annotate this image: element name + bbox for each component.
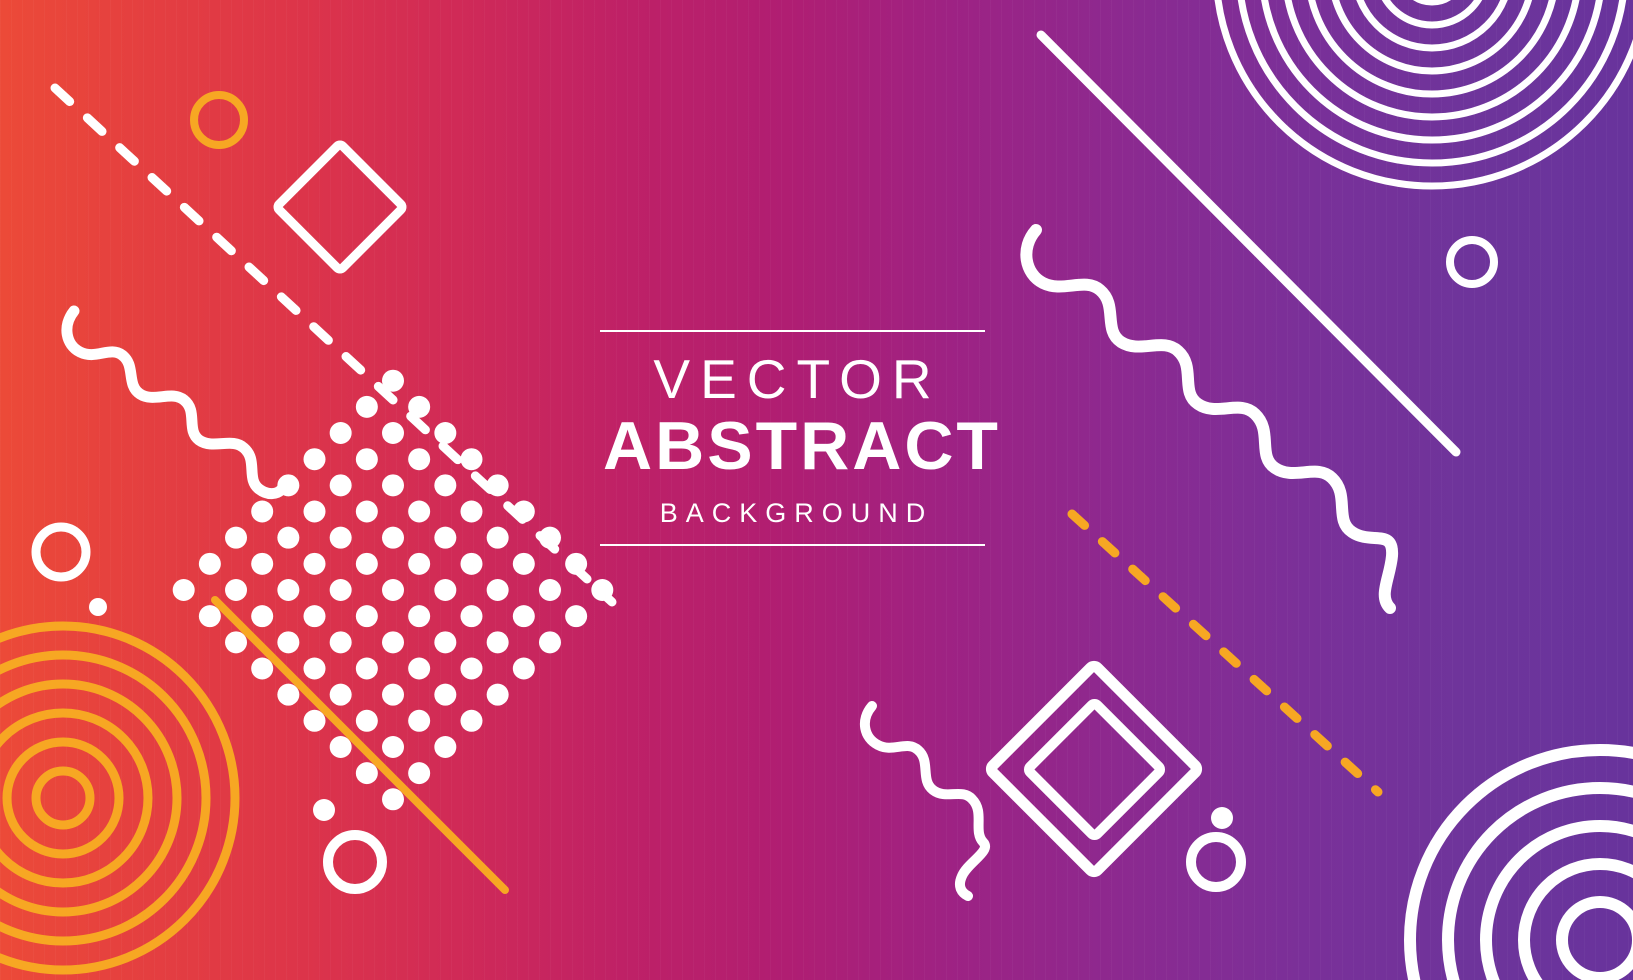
halftone-dot (199, 553, 221, 575)
halftone-dot (460, 657, 482, 679)
halftone-dot (513, 501, 535, 523)
amber-diagonal-line (215, 600, 505, 890)
halftone-dot (382, 631, 404, 653)
halftone-dot (408, 501, 430, 523)
halftone-dot (356, 710, 378, 732)
halftone-dot (487, 527, 509, 549)
halftone-dot (277, 684, 299, 706)
halftone-dot (408, 710, 430, 732)
white-ring-bottom-left-icon (328, 835, 382, 889)
halftone-dot (225, 527, 247, 549)
halftone-dot (277, 579, 299, 601)
amber-concentric-bottom-left (0, 626, 235, 970)
halftone-dot (251, 501, 273, 523)
halftone-dot (277, 474, 299, 496)
halftone-dot (251, 553, 273, 575)
halftone-dot (382, 422, 404, 444)
halftone-dot (408, 657, 430, 679)
halftone-dot (225, 579, 247, 601)
halftone-dot-diamond (173, 370, 614, 811)
white-ring-left-icon (36, 527, 86, 577)
halftone-dot (539, 631, 561, 653)
halftone-dot (356, 501, 378, 523)
halftone-dot (304, 605, 326, 627)
headline-text-block: VECTOR ABSTRACT BACKGROUND (600, 330, 985, 546)
white-square-outline-top-left (276, 143, 403, 270)
halftone-dot (434, 684, 456, 706)
dashed-diagonal-white-line (55, 88, 612, 602)
halftone-dot (487, 474, 509, 496)
halftone-dot (434, 527, 456, 549)
halftone-dot (251, 605, 273, 627)
halftone-dot (356, 762, 378, 784)
halftone-dot (460, 710, 482, 732)
halftone-dot (304, 448, 326, 470)
halftone-dot (356, 396, 378, 418)
halftone-dot (225, 631, 247, 653)
halftone-dot (565, 605, 587, 627)
white-dot-bottom-left-icon (313, 799, 335, 821)
headline-title: VECTOR (600, 350, 985, 409)
halftone-dot (356, 605, 378, 627)
halftone-dot (513, 605, 535, 627)
white-squiggle-right (1026, 230, 1392, 608)
halftone-dot (382, 370, 404, 392)
halftone-dot (356, 553, 378, 575)
halftone-dot (408, 605, 430, 627)
halftone-dot (304, 657, 326, 679)
halftone-dot (330, 579, 352, 601)
headline-subtitle: ABSTRACT (600, 411, 985, 482)
headline-rule-bottom (600, 544, 985, 546)
headline-rule-top (600, 330, 985, 332)
halftone-dot (199, 605, 221, 627)
halftone-dot (460, 448, 482, 470)
halftone-dot (304, 501, 326, 523)
halftone-dot (382, 736, 404, 758)
white-ring-bottom-right-icon (1191, 837, 1241, 887)
halftone-dot (408, 553, 430, 575)
white-dot-left-icon (89, 598, 107, 616)
halftone-dot (356, 657, 378, 679)
halftone-dot (330, 684, 352, 706)
white-concentric-top-right (1216, 0, 1633, 186)
halftone-dot (434, 474, 456, 496)
halftone-dot (460, 501, 482, 523)
halftone-dot (382, 579, 404, 601)
headline-caption: BACKGROUND (600, 499, 985, 529)
halftone-dot (434, 579, 456, 601)
halftone-dot (330, 527, 352, 549)
halftone-dot (487, 631, 509, 653)
halftone-dot (460, 605, 482, 627)
halftone-dot (434, 736, 456, 758)
halftone-dot (330, 474, 352, 496)
white-diamond-outer (989, 664, 1198, 873)
white-concentric-bottom-right (1410, 750, 1633, 980)
halftone-dot (434, 631, 456, 653)
white-diagonal-line-top-right (1041, 35, 1456, 452)
halftone-dot (539, 527, 561, 549)
halftone-dot (277, 631, 299, 653)
halftone-dot (173, 579, 195, 601)
halftone-dot (408, 448, 430, 470)
halftone-dot (277, 527, 299, 549)
halftone-dot (591, 579, 613, 601)
halftone-dot (330, 422, 352, 444)
amber-dashed-diagonal-line (1072, 514, 1378, 792)
white-ring-top-right-icon (1450, 240, 1494, 284)
halftone-dot (304, 553, 326, 575)
halftone-dot (408, 396, 430, 418)
abstract-background-canvas: VECTOR ABSTRACT BACKGROUND (0, 0, 1633, 980)
halftone-dot (382, 684, 404, 706)
halftone-dot (487, 684, 509, 706)
halftone-dot (513, 553, 535, 575)
halftone-dot (408, 762, 430, 784)
halftone-dot (565, 553, 587, 575)
halftone-dot (330, 736, 352, 758)
halftone-dot (513, 657, 535, 679)
halftone-dot (382, 788, 404, 810)
amber-ring-small-icon (194, 95, 244, 145)
halftone-dot (460, 553, 482, 575)
white-squiggle-left (67, 311, 281, 494)
halftone-dot (251, 657, 273, 679)
halftone-dot (330, 631, 352, 653)
halftone-dot (356, 448, 378, 470)
halftone-dot (304, 710, 326, 732)
halftone-dot (382, 527, 404, 549)
halftone-dot (382, 474, 404, 496)
halftone-dot (539, 579, 561, 601)
halftone-dot (487, 579, 509, 601)
white-diamond-inner (1027, 702, 1161, 836)
white-dot-bottom-right-icon (1211, 807, 1233, 829)
white-squiggle-bottom (865, 706, 985, 896)
halftone-dot (434, 422, 456, 444)
